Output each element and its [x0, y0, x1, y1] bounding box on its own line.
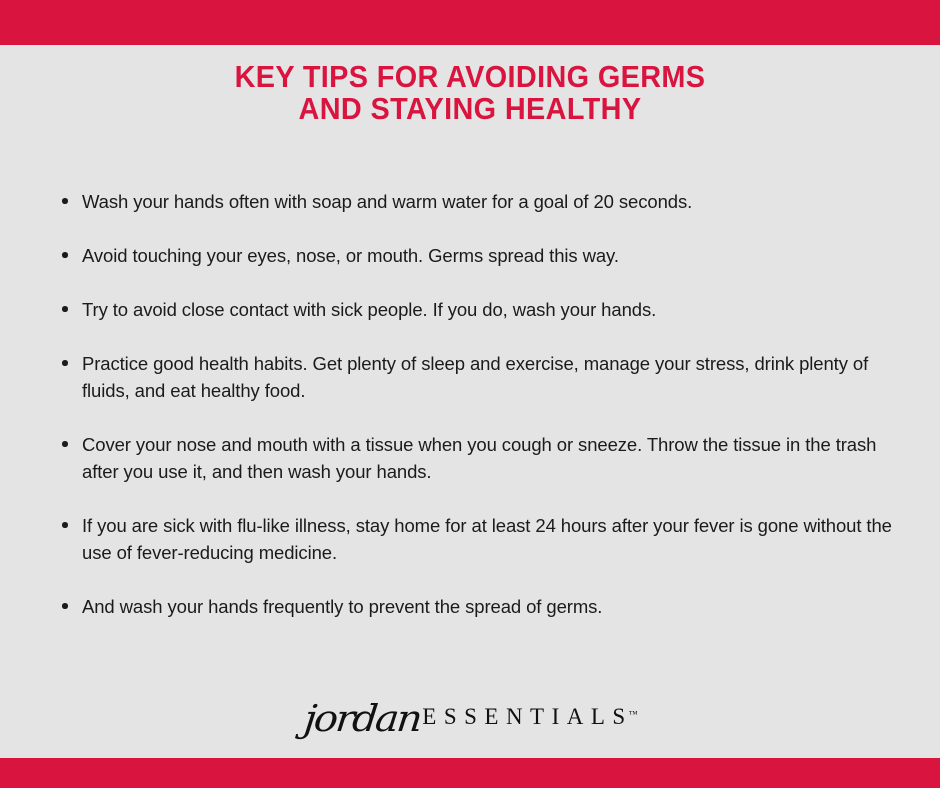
bullet-icon	[62, 306, 68, 312]
top-accent-bar	[0, 0, 940, 45]
list-item: Wash your hands often with soap and warm…	[58, 188, 898, 215]
brand-logo-inner: jordanESSENTIALS™	[302, 688, 637, 738]
poster: KEY TIPS FOR AVOIDING GERMS AND STAYING …	[0, 0, 940, 788]
bullet-icon	[62, 252, 68, 258]
brand-logo: jordanESSENTIALS™	[0, 688, 940, 738]
bullet-icon	[62, 360, 68, 366]
list-item: Cover your nose and mouth with a tissue …	[58, 431, 898, 485]
bottom-accent-bar	[0, 758, 940, 788]
brand-script-wordmark: jordan	[302, 698, 422, 740]
list-item-label: If you are sick with flu-like illness, s…	[82, 512, 898, 566]
brand-block-wordmark: ESSENTIALS	[422, 704, 632, 730]
tips-list: Wash your hands often with soap and warm…	[58, 188, 898, 620]
list-item-label: Cover your nose and mouth with a tissue …	[82, 431, 898, 485]
list-item-label: Wash your hands often with soap and warm…	[82, 188, 898, 215]
list-item: Try to avoid close contact with sick peo…	[58, 296, 898, 323]
bullet-icon	[62, 441, 68, 447]
page-title-line-1: KEY TIPS FOR AVOIDING GERMS	[33, 61, 907, 93]
list-item-label: Practice good health habits. Get plenty …	[82, 350, 898, 404]
list-item-label: Try to avoid close contact with sick peo…	[82, 296, 898, 323]
bullet-icon	[62, 198, 68, 204]
list-item: Avoid touching your eyes, nose, or mouth…	[58, 242, 898, 269]
list-item-label: Avoid touching your eyes, nose, or mouth…	[82, 242, 898, 269]
bullet-icon	[62, 603, 68, 609]
list-item: And wash your hands frequently to preven…	[58, 593, 898, 620]
page-title: KEY TIPS FOR AVOIDING GERMS AND STAYING …	[0, 61, 940, 125]
page-title-line-2: AND STAYING HEALTHY	[33, 93, 907, 125]
bullet-icon	[62, 522, 68, 528]
list-item-label: And wash your hands frequently to preven…	[82, 593, 898, 620]
list-item: If you are sick with flu-like illness, s…	[58, 512, 898, 566]
list-item: Practice good health habits. Get plenty …	[58, 350, 898, 404]
trademark-icon: ™	[629, 709, 638, 719]
